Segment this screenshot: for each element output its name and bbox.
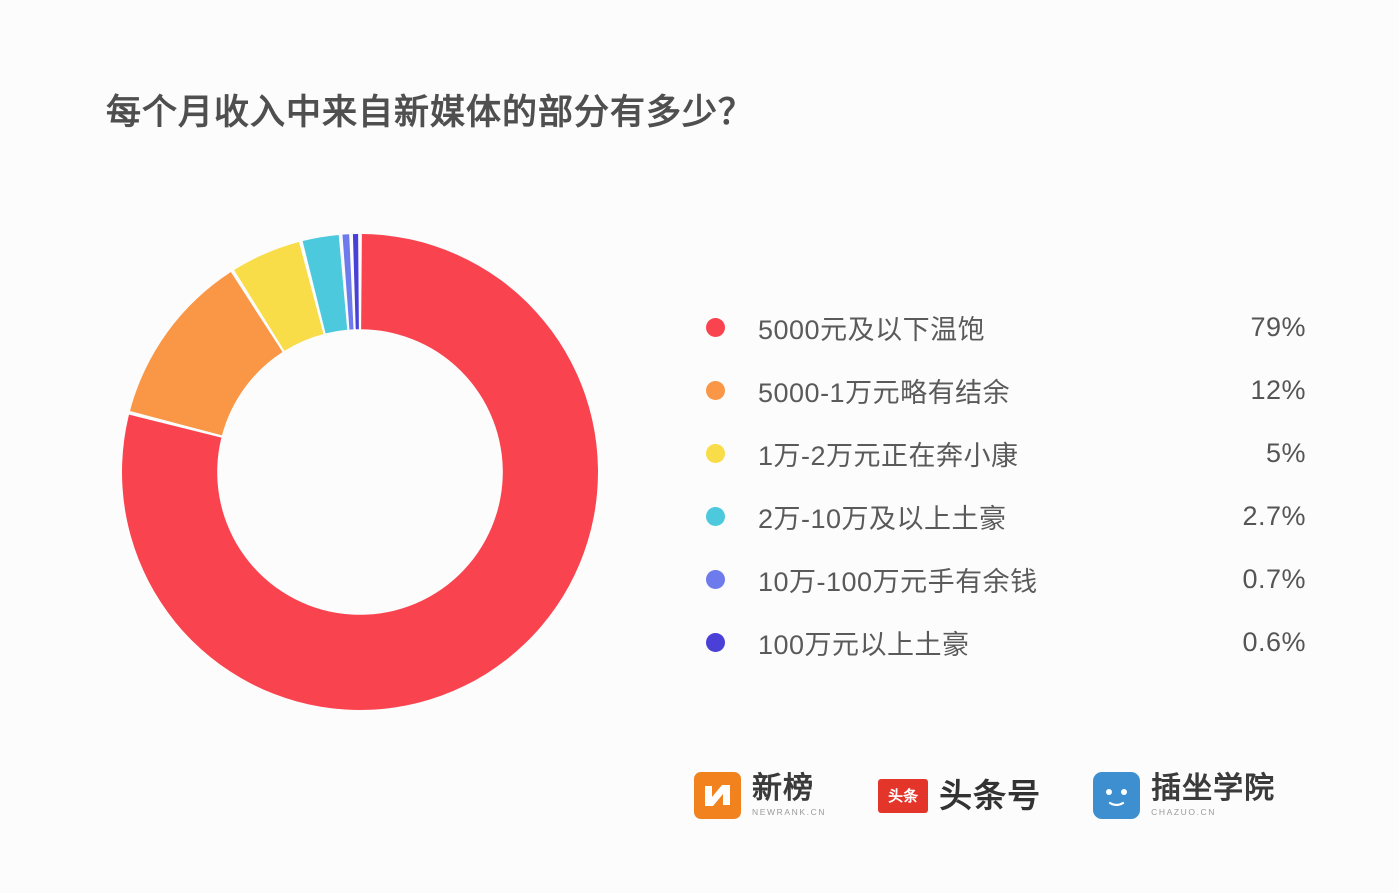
toutiao-logo-cn: 头条号 [939, 779, 1041, 812]
legend-value: 79% [1178, 312, 1306, 343]
newrank-logo-text: 新榜 NEWRANK.CN [752, 774, 826, 817]
legend-swatch-cell [706, 570, 758, 589]
chazuo-logo-text: 插坐学院 CHAZUO.CN [1151, 774, 1275, 817]
newrank-logo-cn: 新榜 [752, 774, 826, 804]
legend-value: 0.6% [1178, 627, 1306, 658]
newrank-logo-en: NEWRANK.CN [752, 808, 826, 817]
legend-color-dot-icon [706, 318, 725, 337]
chazuo-logo-cn: 插坐学院 [1151, 774, 1275, 804]
legend-color-dot-icon [706, 633, 725, 652]
logo-toutiao[interactable]: 头条 头条号 [878, 779, 1041, 813]
legend-swatch-cell [706, 633, 758, 652]
legend-color-dot-icon [706, 381, 725, 400]
legend-row[interactable]: 1万-2万元正在奔小康 5% [706, 422, 1306, 485]
legend-value: 2.7% [1178, 501, 1306, 532]
toutiao-logo-text: 头条号 [939, 779, 1041, 812]
legend-swatch-cell [706, 507, 758, 526]
donut-chart-svg [118, 230, 602, 714]
legend-value: 0.7% [1178, 564, 1306, 595]
slide-canvas: 每个月收入中来自新媒体的部分有多少？ 5000元及以下温饱 79% 5000-1… [0, 0, 1399, 893]
legend-row[interactable]: 5000元及以下温饱 79% [706, 296, 1306, 359]
page-title: 每个月收入中来自新媒体的部分有多少？ [106, 84, 754, 135]
legend-swatch-cell [706, 444, 758, 463]
toutiao-logo-icon: 头条 [878, 779, 928, 813]
donut-chart [118, 230, 602, 714]
legend-color-dot-icon [706, 507, 725, 526]
legend-row[interactable]: 10万-100万元手有余钱 0.7% [706, 548, 1306, 611]
legend-label: 5000元及以下温饱 [758, 308, 1178, 347]
legend-label: 5000-1万元略有结余 [758, 371, 1178, 410]
legend-label: 2万-10万及以上土豪 [758, 497, 1178, 536]
chart-legend: 5000元及以下温饱 79% 5000-1万元略有结余 12% 1万-2万元正在… [706, 296, 1306, 674]
legend-value: 12% [1178, 375, 1306, 406]
legend-value: 5% [1178, 438, 1306, 469]
legend-row[interactable]: 5000-1万元略有结余 12% [706, 359, 1306, 422]
legend-swatch-cell [706, 318, 758, 337]
logo-newrank[interactable]: 新榜 NEWRANK.CN [694, 772, 826, 819]
chazuo-logo-en: CHAZUO.CN [1151, 808, 1275, 817]
legend-row[interactable]: 100万元以上土豪 0.6% [706, 611, 1306, 674]
footer-logo-bar: 新榜 NEWRANK.CN 头条 头条号 插坐学院 CHAZUO.CN [694, 772, 1275, 819]
chazuo-logo-icon [1093, 772, 1140, 819]
legend-row[interactable]: 2万-10万及以上土豪 2.7% [706, 485, 1306, 548]
logo-chazuo[interactable]: 插坐学院 CHAZUO.CN [1093, 772, 1275, 819]
newrank-logo-icon [694, 772, 741, 819]
donut-slices [122, 234, 598, 710]
newrank-n-glyph-icon [694, 772, 741, 819]
chazuo-face-glyph-icon [1093, 772, 1140, 819]
legend-color-dot-icon [706, 444, 725, 463]
legend-label: 10万-100万元手有余钱 [758, 560, 1178, 599]
donut-slice[interactable] [353, 234, 359, 329]
legend-color-dot-icon [706, 570, 725, 589]
legend-label: 100万元以上土豪 [758, 623, 1178, 662]
legend-swatch-cell [706, 381, 758, 400]
legend-label: 1万-2万元正在奔小康 [758, 434, 1178, 473]
